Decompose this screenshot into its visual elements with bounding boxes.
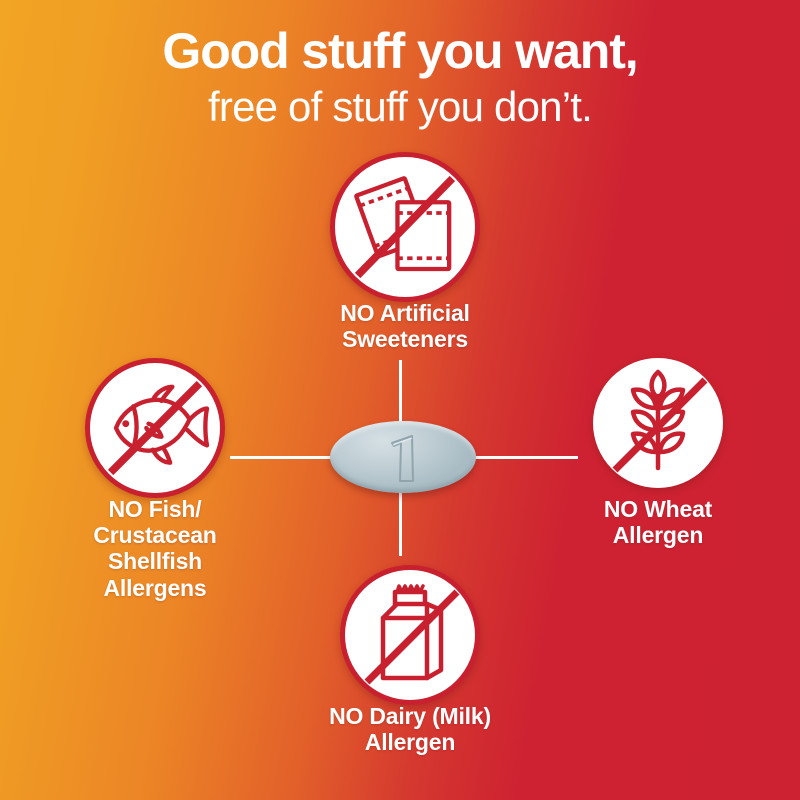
headline-block: Good stuff you want, free of stuff you d… — [0, 26, 800, 128]
badge-no-wheat-allergen: NO Wheat Allergen — [593, 358, 723, 488]
badge-circle — [593, 358, 723, 488]
badge-caption: NO Fish/ Crustacean Shellfish Allergens — [93, 496, 216, 601]
fish-eye-icon — [122, 420, 129, 427]
badge-circle — [85, 358, 225, 498]
no-dairy-milk-icon — [345, 570, 475, 700]
badge-caption: NO Artificial Sweeteners — [340, 300, 469, 352]
badge-caption: NO Dairy (Milk) Allergen — [329, 703, 491, 755]
headline-line-2: free of stuff you don’t. — [0, 86, 800, 128]
no-wheat-icon — [593, 358, 723, 488]
badge-circle — [340, 565, 480, 705]
pill-body — [330, 421, 476, 493]
badge-no-artificial-sweeteners: NO Artificial Sweeteners — [330, 152, 480, 302]
promotional-graphic: Good stuff you want, free of stuff you d… — [0, 0, 800, 800]
headline-line-1: Good stuff you want, — [0, 26, 800, 76]
badge-no-fish-crustacean-shellfish: NO Fish/ Crustacean Shellfish Allergens — [85, 358, 225, 498]
pill-imprint-1-icon — [330, 421, 476, 499]
badge-no-dairy-milk-allergen: NO Dairy (Milk) Allergen — [340, 565, 480, 705]
no-artificial-sweeteners-icon — [335, 157, 475, 297]
no-fish-icon — [90, 363, 220, 493]
product-pill — [330, 415, 476, 499]
badge-caption: NO Wheat Allergen — [604, 496, 712, 548]
badge-circle — [330, 152, 480, 302]
